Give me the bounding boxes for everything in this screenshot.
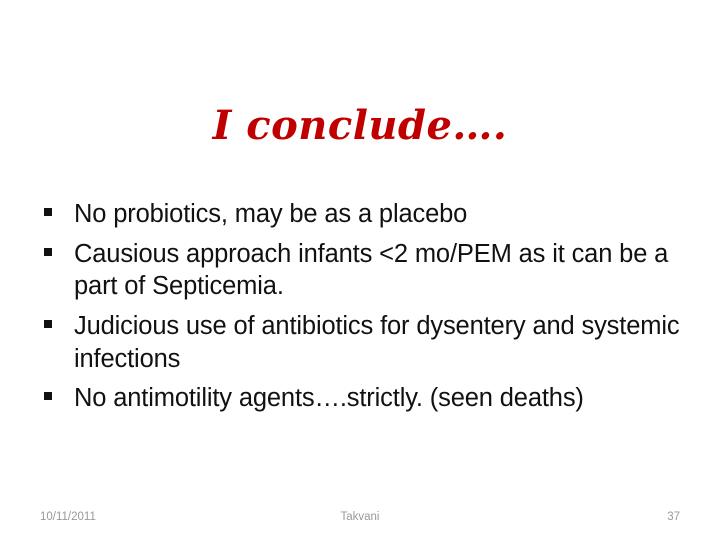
footer-page-number: 37 (667, 511, 680, 523)
bullet-list: No probiotics, may be as a placebo Causi… (38, 198, 694, 422)
list-item-text: Causious approach infants <2 mo/PEM as i… (74, 240, 668, 301)
list-item-text: No probiotics, may be as a placebo (74, 200, 467, 228)
slide-footer: 10/11/2011 Takvani 37 (0, 511, 720, 527)
slide-title: I conclude…. (0, 104, 720, 148)
square-bullet-icon (44, 392, 52, 400)
slide: I conclude…. No probiotics, may be as a … (0, 0, 720, 540)
square-bullet-icon (44, 320, 52, 328)
square-bullet-icon (44, 248, 52, 256)
square-bullet-icon (44, 208, 52, 216)
footer-author: Takvani (0, 511, 720, 523)
list-item-text: No antimotility agents….strictly. (seen … (74, 384, 584, 412)
list-item: Causious approach infants <2 mo/PEM as i… (38, 238, 694, 303)
list-item: Judicious use of antibiotics for dysente… (38, 310, 694, 375)
list-item-text: Judicious use of antibiotics for dysente… (74, 312, 679, 373)
list-item: No probiotics, may be as a placebo (38, 198, 694, 231)
list-item: No antimotility agents….strictly. (seen … (38, 382, 694, 415)
